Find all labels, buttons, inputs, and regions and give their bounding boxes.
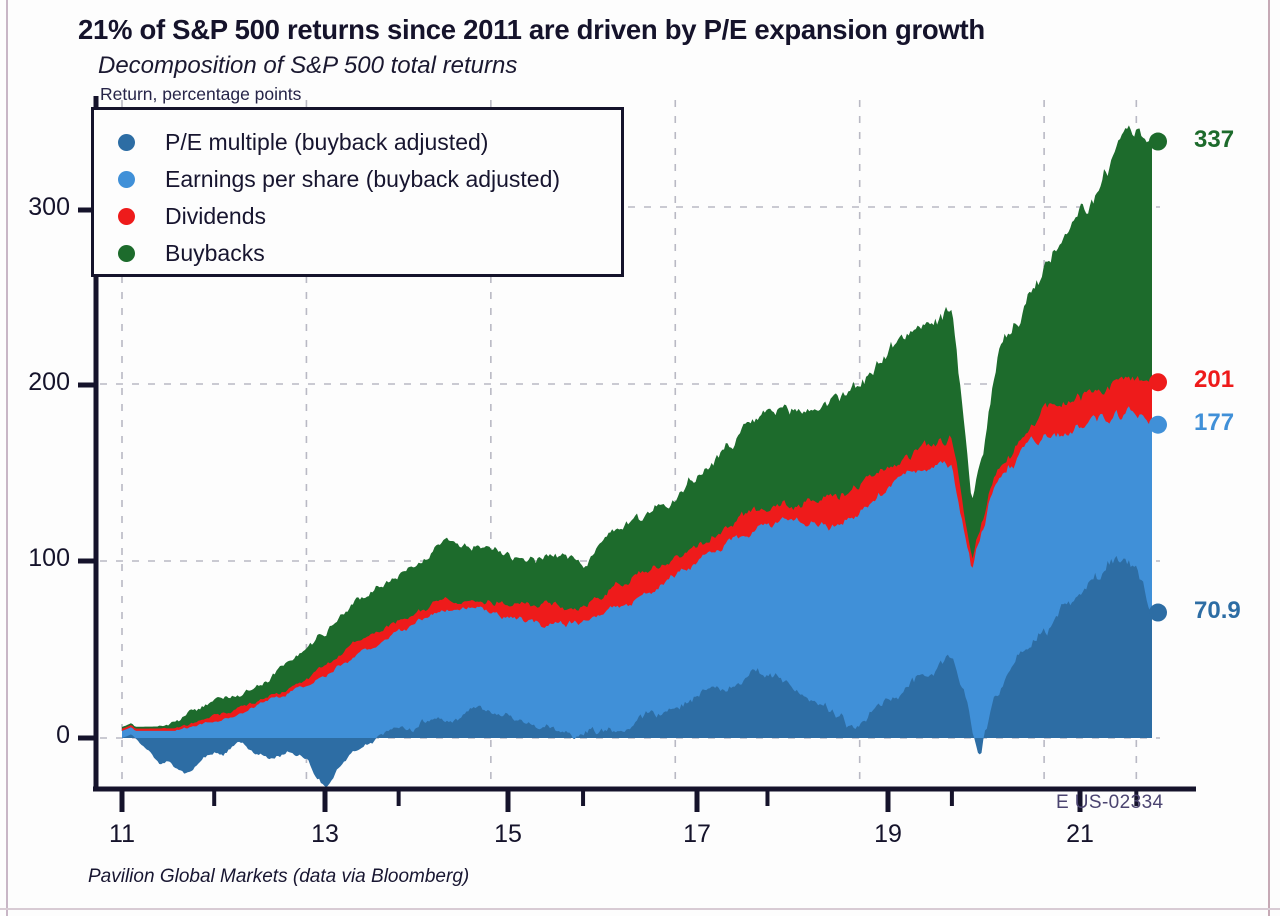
y-tick-label-0: 0 xyxy=(0,721,70,750)
end-label-buybacks: 337 xyxy=(1194,126,1234,154)
x-tick-label-21: 21 xyxy=(1040,820,1120,849)
legend-item-buybacks: Buybacks xyxy=(108,235,621,272)
legend-marker-eps-icon xyxy=(118,171,135,188)
legend-item-pe: P/E multiple (buyback adjusted) xyxy=(108,124,621,161)
y-tick-label-300: 300 xyxy=(0,193,70,222)
x-tick-label-15: 15 xyxy=(468,820,548,849)
legend-label-dividends: Dividends xyxy=(165,203,266,230)
end-marker-dividends-icon xyxy=(1149,373,1167,391)
legend-item-eps: Earnings per share (buyback adjusted) xyxy=(108,161,621,198)
chart-page: 21% of S&P 500 returns since 2011 are dr… xyxy=(0,0,1280,916)
end-label-pe: 70.9 xyxy=(1194,597,1241,625)
end-marker-eps-icon xyxy=(1149,416,1167,434)
chart-legend: P/E multiple (buyback adjusted)Earnings … xyxy=(91,107,624,277)
watermark-id: E US-02334 xyxy=(1056,792,1164,814)
y-tick-label-100: 100 xyxy=(0,544,70,573)
legend-label-buybacks: Buybacks xyxy=(165,240,265,267)
legend-marker-buybacks-icon xyxy=(118,245,135,262)
x-tick-label-19: 19 xyxy=(848,820,928,849)
end-marker-pe-icon xyxy=(1149,604,1167,622)
legend-label-eps: Earnings per share (buyback adjusted) xyxy=(165,166,560,193)
legend-marker-dividends-icon xyxy=(118,208,135,225)
y-tick-label-200: 200 xyxy=(0,368,70,397)
source-note: Pavilion Global Markets (data via Bloomb… xyxy=(88,866,469,888)
legend-marker-pe-icon xyxy=(118,134,135,151)
end-label-eps: 177 xyxy=(1194,409,1234,437)
x-tick-label-11: 11 xyxy=(82,820,162,849)
x-tick-label-17: 17 xyxy=(657,820,737,849)
legend-item-dividends: Dividends xyxy=(108,198,621,235)
end-marker-buybacks-icon xyxy=(1149,133,1167,151)
legend-label-pe: P/E multiple (buyback adjusted) xyxy=(165,129,488,156)
end-label-dividends: 201 xyxy=(1194,366,1234,394)
x-tick-label-13: 13 xyxy=(285,820,365,849)
